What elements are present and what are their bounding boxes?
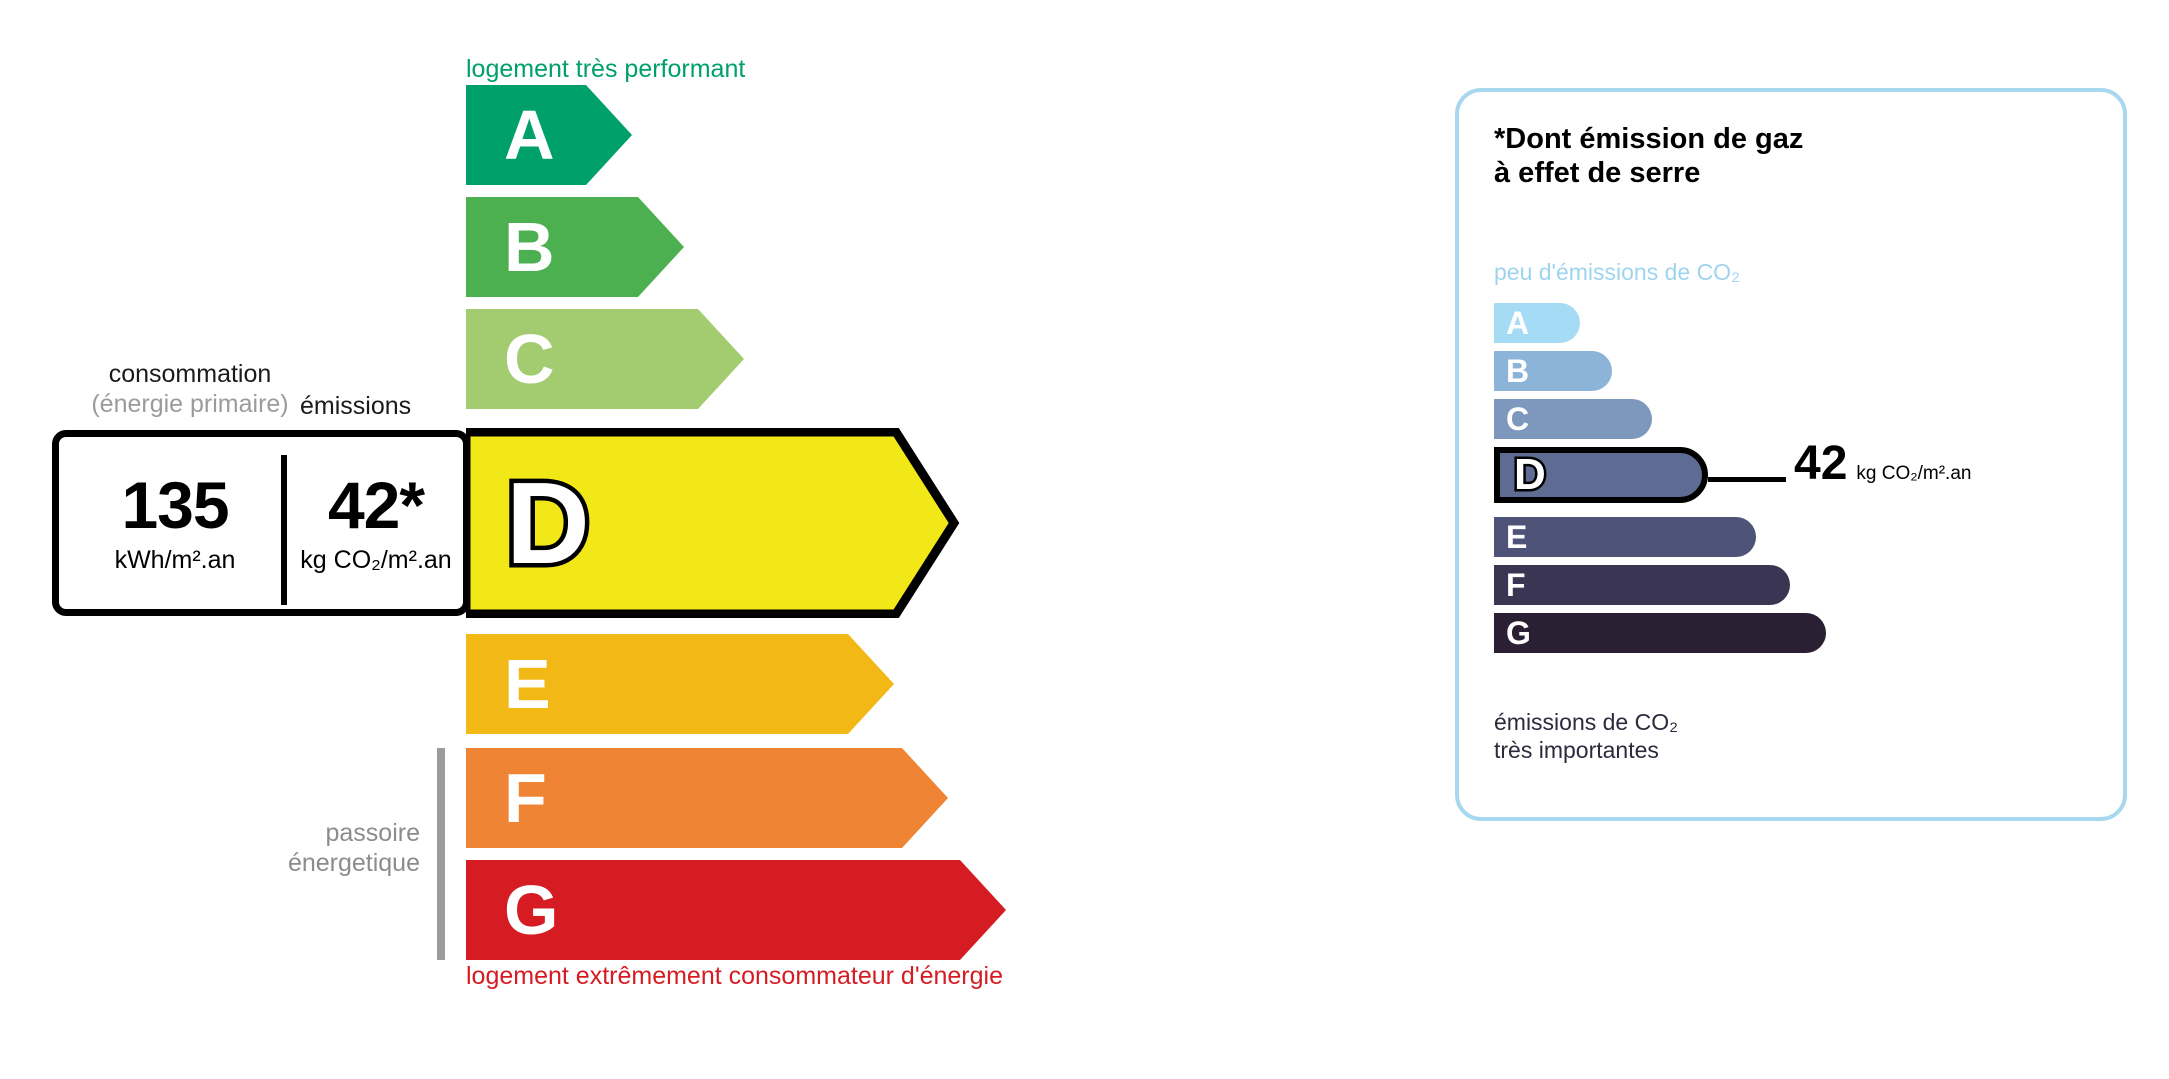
co2-bottom-caption-line2: très importantes <box>1494 737 1678 765</box>
co2-bar-letter-a: A <box>1506 307 1529 339</box>
co2-callout-number: 42 <box>1794 440 1847 488</box>
co2-bar-shape-a: A <box>1494 303 1580 343</box>
energy-band-a[interactable]: A <box>466 85 632 185</box>
co2-bar-letter-b: B <box>1506 355 1529 387</box>
co2-bar-letter-e: E <box>1506 521 1527 553</box>
co2-bottom-caption-line1: émissions de CO₂ <box>1494 709 1678 737</box>
co2-top-caption: peu d'émissions de CO₂ <box>1494 259 1740 286</box>
co2-bar-e[interactable]: E <box>1494 517 1756 557</box>
co2-bar-letter-f: F <box>1506 569 1526 601</box>
band-letter-b: B <box>504 212 555 282</box>
energy-band-g[interactable]: G <box>466 860 1006 960</box>
co2-bar-shape-d: D <box>1494 447 1708 503</box>
band-letter-f: F <box>504 763 547 833</box>
co2-bar-d-selected[interactable]: D <box>1494 447 1708 503</box>
emissions-value-cell: 42* kg CO₂/m².an <box>287 437 465 609</box>
band-letter-d: D <box>506 465 590 581</box>
co2-bar-shape-g: G <box>1494 613 1826 653</box>
band-letter-e: E <box>504 649 551 719</box>
passoire-marker-bar <box>437 748 445 960</box>
consumption-label-sub: (énergie primaire) <box>60 390 320 420</box>
energy-band-e[interactable]: E <box>466 634 894 734</box>
co2-callout: 42 kg CO₂/m².an <box>1794 440 1971 488</box>
band-arrow-b <box>466 197 684 297</box>
co2-bar-shape-f: F <box>1494 565 1790 605</box>
co2-bar-c[interactable]: C <box>1494 399 1652 439</box>
co2-bar-g[interactable]: G <box>1494 613 1826 653</box>
co2-bar-a[interactable]: A <box>1494 303 1580 343</box>
co2-bar-shape-c: C <box>1494 399 1652 439</box>
co2-callout-leader-line <box>1708 477 1786 482</box>
consumption-label: consommation (énergie primaire) <box>60 360 320 419</box>
energy-band-b[interactable]: B <box>466 197 684 297</box>
consumption-label-main: consommation <box>109 360 272 388</box>
co2-bar-shape-b: B <box>1494 351 1612 391</box>
value-divider <box>281 455 287 605</box>
co2-bar-b[interactable]: B <box>1494 351 1612 391</box>
energy-top-caption: logement très performant <box>466 55 745 84</box>
co2-bottom-caption: émissions de CO₂ très importantes <box>1494 709 1678 764</box>
energy-band-c[interactable]: C <box>466 309 744 409</box>
emissions-unit: kg CO₂/m².an <box>300 546 451 575</box>
passoire-label-line2: énergetique <box>240 848 420 878</box>
co2-bar-f[interactable]: F <box>1494 565 1790 605</box>
consumption-value: 135 <box>121 472 228 538</box>
co2-bar-letter-c: C <box>1506 403 1529 435</box>
energy-bottom-caption: logement extrêmement consommateur d'éner… <box>466 962 1003 991</box>
dpe-energy-label: logement très performant A B C <box>0 0 1400 1079</box>
co2-bar-shape-e: E <box>1494 517 1756 557</box>
consumption-value-cell: 135 kWh/m².an <box>69 437 281 609</box>
band-letter-g: G <box>504 875 558 945</box>
co2-title-line1: *Dont émission de gaz <box>1494 122 1803 156</box>
co2-panel: *Dont émission de gaz à effet de serre p… <box>1455 88 2127 821</box>
energy-band-d-selected[interactable]: D <box>466 428 962 618</box>
band-letter-c: C <box>504 324 555 394</box>
co2-title-line2: à effet de serre <box>1494 156 1803 190</box>
consumption-unit: kWh/m².an <box>115 546 236 575</box>
passoire-label-line1: passoire <box>240 818 420 848</box>
band-shape-b <box>466 197 684 297</box>
co2-bar-letter-g: G <box>1506 617 1531 649</box>
co2-bar-letter-d: D <box>1514 453 1546 497</box>
emissions-label: émissions <box>300 392 411 421</box>
band-letter-a: A <box>504 100 555 170</box>
co2-panel-title: *Dont émission de gaz à effet de serre <box>1494 122 1803 190</box>
emissions-value: 42* <box>328 472 424 538</box>
co2-callout-unit: kg CO₂/m².an <box>1856 463 1971 485</box>
value-box: 135 kWh/m².an 42* kg CO₂/m².an <box>52 430 470 616</box>
energy-band-f[interactable]: F <box>466 748 948 848</box>
passoire-label: passoire énergetique <box>240 818 420 878</box>
